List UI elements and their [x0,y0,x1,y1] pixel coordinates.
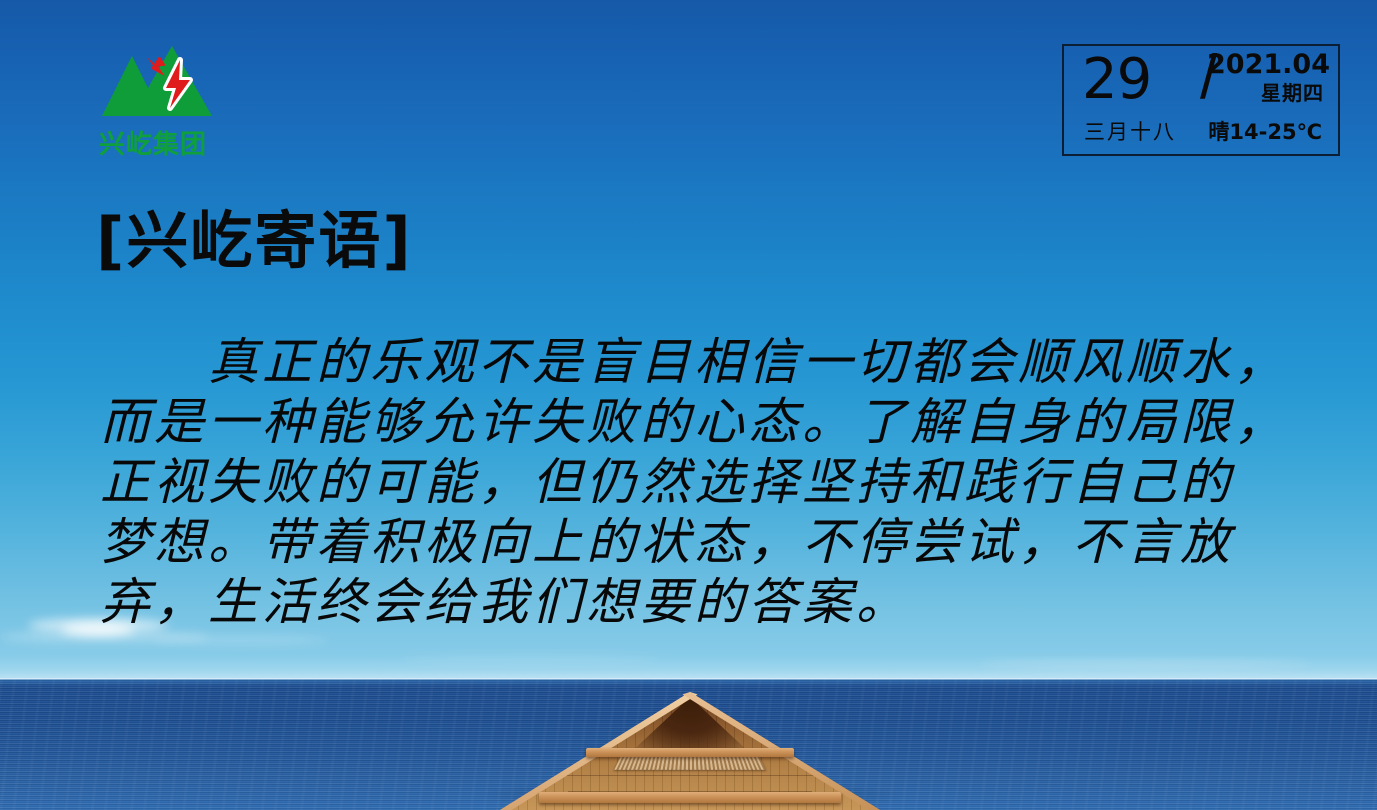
page-title: [兴屹寄语] [96,205,413,277]
mountain-lightning-icon [90,38,216,126]
logo[interactable]: 兴屹集团 [90,38,216,156]
date-lunar: 三月十八 [1084,116,1176,146]
daily-quote-poster: 兴屹集团 29 / 2021.04 星期四 三月十八 晴14-25℃ [兴屹寄语… [0,0,1377,810]
boat-thwart [586,748,794,757]
date-year-month: 2021.04 [1207,50,1330,80]
quote-line: 而是一种能够允许失败的心态。了解自身的局限， [100,392,1280,452]
quote-body: 真正的乐观不是盲目相信一切都会顺风顺水， 而是一种能够允许失败的心态。了解自身的… [100,332,1280,632]
boat-thwart [539,792,841,803]
wooden-canoe-bow [500,692,880,810]
weather-info: 晴14-25℃ [1208,116,1322,146]
quote-line: 弃，生活终会给我们想要的答案。 [100,572,1280,632]
date-weekday: 星期四 [1261,80,1324,106]
boat-deck-grate [614,755,766,770]
horizon-line [0,678,1377,680]
date-primary-row: 29 / 2021.04 星期四 [1064,50,1342,110]
quote-line: 真正的乐观不是盲目相信一切都会顺风顺水， [100,332,1280,392]
date-day: 29 [1082,50,1151,110]
logo-brand-text: 兴屹集团 [90,124,216,161]
cloud-wisp [150,636,330,644]
date-box: 29 / 2021.04 星期四 三月十八 晴14-25℃ [1062,44,1340,156]
quote-line: 梦想。带着积极向上的状态，不停尝试，不言放 [100,512,1280,572]
quote-line: 正视失败的可能，但仍然选择坚持和践行自己的 [100,452,1280,512]
horizon-haze [0,655,1377,679]
